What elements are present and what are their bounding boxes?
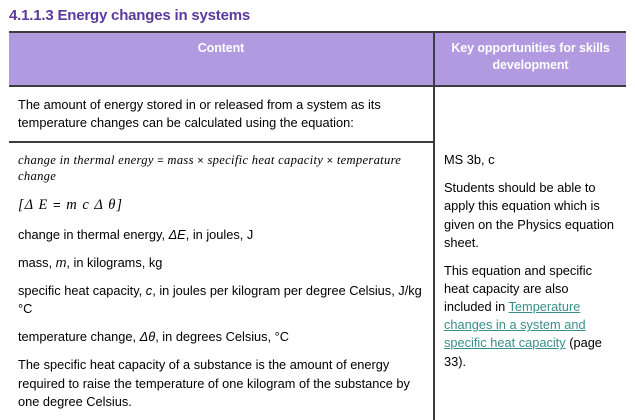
column-header-content: Content [9,32,434,86]
variable-suffix-delta-e: , in joules, J [186,227,254,242]
table-row-equation: change in thermal energy = mass × specif… [9,142,626,420]
equation-equals-sign: = [157,155,164,167]
variable-symbol-delta-e: ΔE [169,227,186,242]
ms-reference: MS 3b, c [444,151,617,169]
table-header: Content Key opportunities for skills dev… [9,32,626,86]
variable-prefix-mass: mass, [18,255,56,270]
equation-symbolic: [Δ E = m c Δ θ] [18,196,424,215]
specification-table: Content Key opportunities for skills dev… [9,31,626,420]
variable-definition-temperature-change: temperature change, Δθ, in degrees Celsi… [18,328,424,346]
equation-symbol-m: m [66,197,77,213]
table-row-intro: The amount of energy stored in or releas… [9,86,626,142]
variable-symbol-temperature-change: Δθ [140,329,156,344]
variable-prefix-temperature-change: temperature change, [18,329,140,344]
equation-word-mass: mass [167,153,193,167]
specific-heat-capacity-definition: The specific heat capacity of a substanc… [18,356,424,410]
equation-symbol-delta-theta: Δ θ [94,197,116,213]
equation-word-specific-heat-capacity: specific heat capacity [207,153,323,167]
cross-reference-note: This equation and specific heat capacity… [444,262,617,371]
equation-symbol-c: c [82,197,89,213]
equation-word-change-in-thermal-energy: change in thermal energy [18,153,154,167]
cell-content-equation: change in thermal energy = mass × specif… [9,142,434,420]
page-title: 4.1.1.3 Energy changes in systems [0,0,635,26]
cell-content-intro: The amount of energy stored in or releas… [9,86,434,142]
cell-skills-equation: MS 3b, c Students should be able to appl… [434,142,626,420]
intro-paragraph: The amount of energy stored in or releas… [18,96,424,132]
variable-prefix-specific-heat-capacity: specific heat capacity, [18,283,146,298]
variable-suffix-temperature-change: , in degrees Celsius, °C [155,329,289,344]
cell-skills-intro [434,86,626,142]
variable-suffix-mass: , in kilograms, kg [66,255,162,270]
variable-prefix-delta-e: change in thermal energy, [18,227,169,242]
equation-bracket-close: ] [116,197,123,213]
variable-definition-mass: mass, m, in kilograms, kg [18,254,424,272]
table-body: The amount of energy stored in or releas… [9,86,626,420]
equation-multiply-sign-1: × [197,155,204,167]
equation-symbol-delta-e: Δ E [25,197,49,213]
equation-bracket-open: [ [18,197,25,213]
equation-symbolic-equals: = [53,197,62,212]
column-header-skills: Key opportunities for skills development [434,32,626,86]
variable-symbol-mass: m [56,255,67,270]
equation-multiply-sign-2: × [327,155,334,167]
table-header-row: Content Key opportunities for skills dev… [9,32,626,86]
variable-definition-specific-heat-capacity: specific heat capacity, c, in joules per… [18,282,424,318]
variable-definition-delta-e: change in thermal energy, ΔE, in joules,… [18,226,424,244]
students-should-be-able-to-note: Students should be able to apply this eq… [444,179,617,252]
equation-in-words: change in thermal energy = mass × specif… [18,152,424,185]
